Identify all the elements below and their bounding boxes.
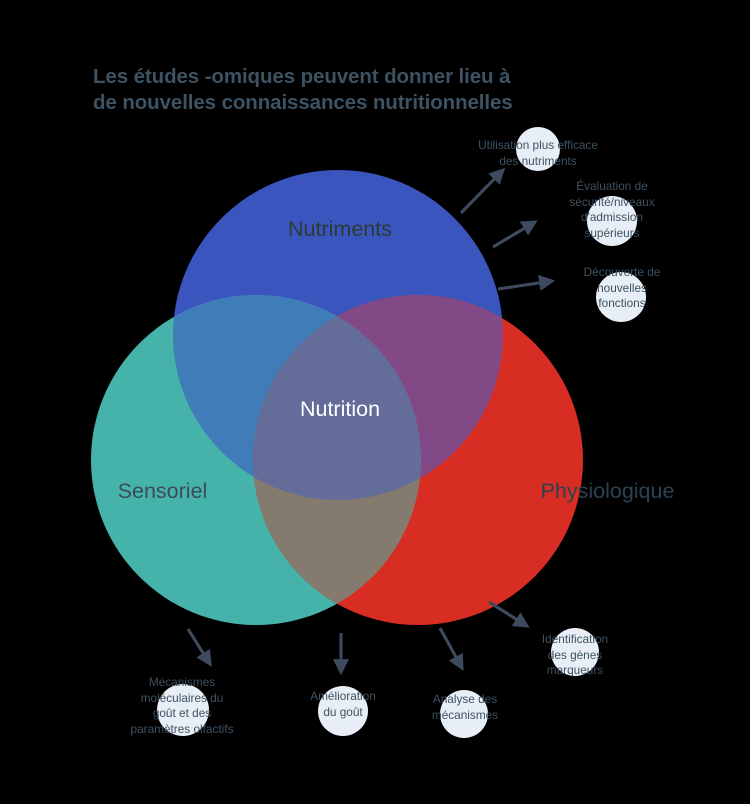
- callout-utilisation-nutriments: Utilisation plus efficace des nutriments: [443, 138, 633, 169]
- callout-analyse-mecanismes: Analyse des mécanismes: [404, 692, 526, 723]
- arrow-to-utilisation-nutriments: [461, 170, 503, 213]
- callout-mecanismes-moleculaires: Mécanismes moléculaires du goût et des p…: [108, 675, 256, 737]
- arrow-to-analyse-mecanismes: [440, 628, 462, 668]
- arrow-to-identification-genes: [489, 602, 527, 626]
- callout-identification-genes: Identification des gènes marqueurs: [512, 632, 638, 679]
- callout-evaluation-securite: Évaluation de sécurité/niveaux d'admissi…: [538, 179, 686, 241]
- diagram-canvas: Les études -omiques peuvent donner lieu …: [0, 0, 750, 804]
- arrow-to-evaluation-securite: [493, 222, 535, 247]
- callout-amelioration-gout: Amélioration du goût: [281, 689, 405, 720]
- arrow-to-decouverte-fonctions: [498, 281, 552, 289]
- arrow-to-mecanismes-moleculaires: [188, 629, 210, 664]
- callout-decouverte-fonctions: Découverte de nouvelles fonctions: [548, 265, 696, 312]
